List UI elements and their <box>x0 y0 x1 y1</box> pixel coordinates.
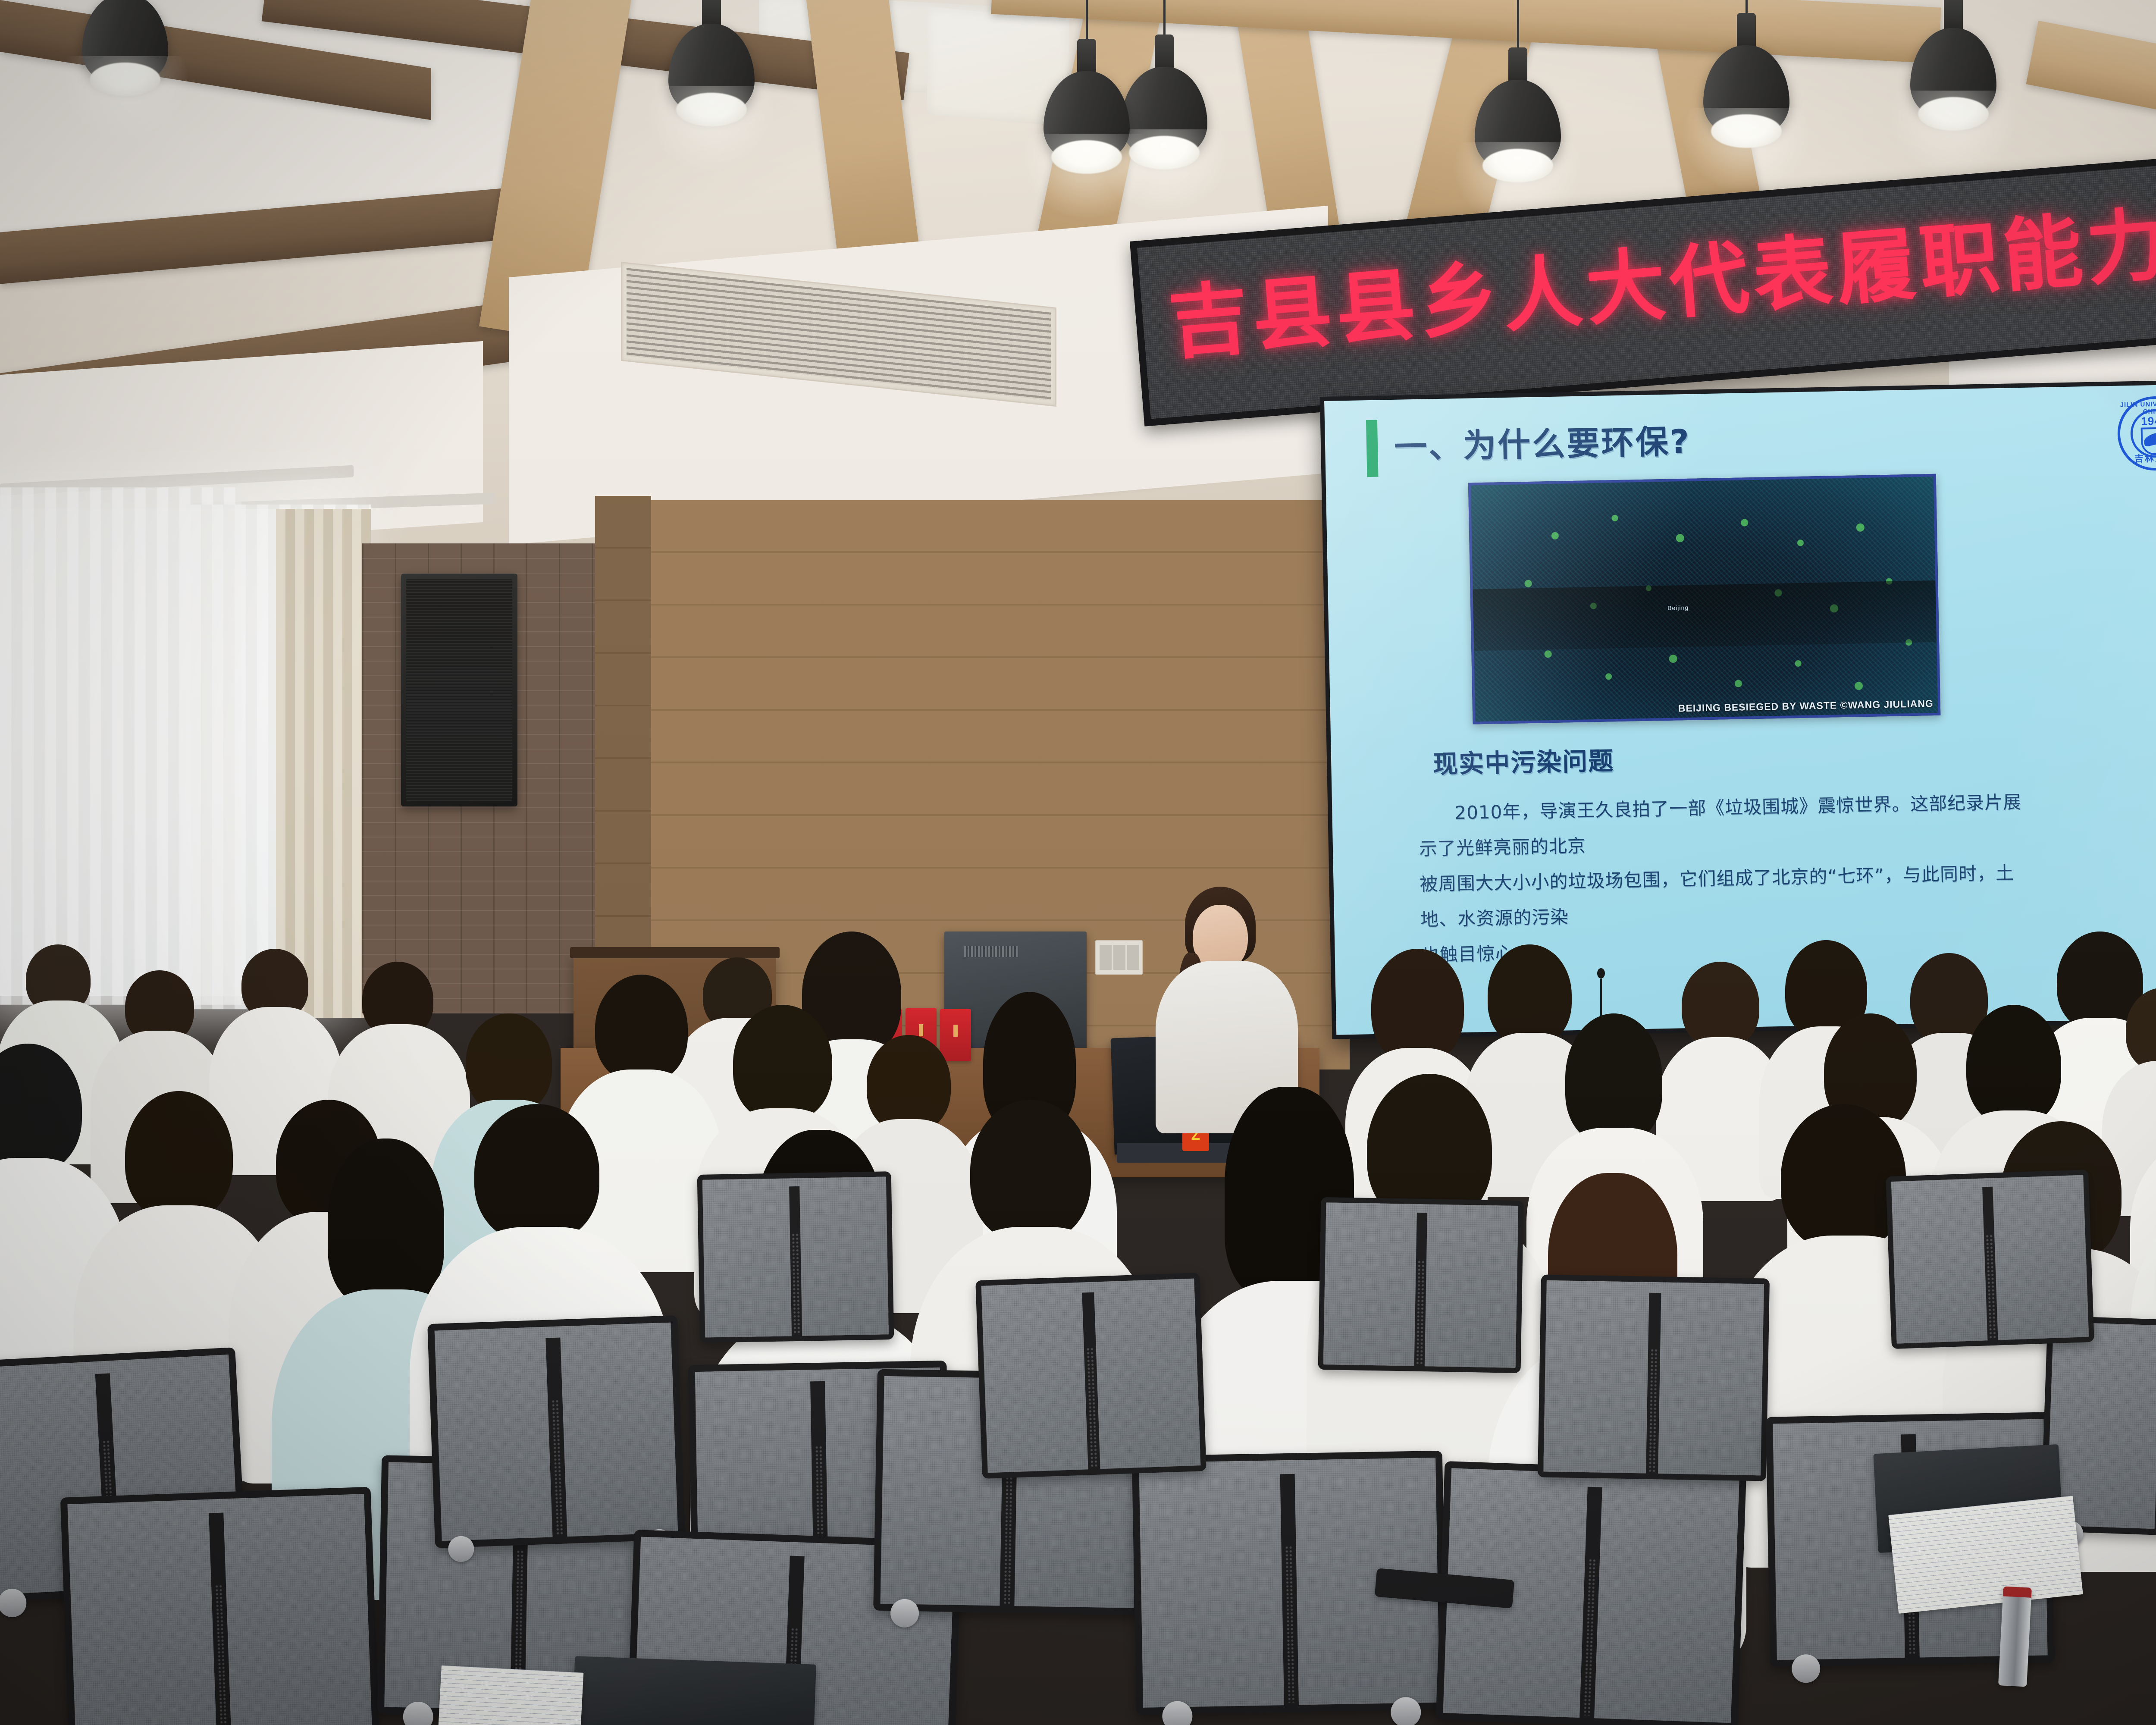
chair-tablet-arm-2[interactable] <box>572 1656 816 1725</box>
conference-room-photo: 吉县县乡人大代表履职能力提升培 一、为什么要环保? JILIN UNIVERSI… <box>0 0 2156 1725</box>
open-notebook <box>1888 1496 2083 1614</box>
slide-content: 一、为什么要环保? JILIN UNIVERSITY · CHINA 1946 … <box>1324 384 2156 1035</box>
logo-year: 1946 <box>2117 414 2156 428</box>
wall-speaker-left <box>401 574 517 806</box>
paper-sheet <box>439 1665 584 1725</box>
chair-m4[interactable] <box>1886 1170 2094 1349</box>
certificate-box-3 <box>940 1009 971 1061</box>
slide-satellite-photo: Beijing BEIJING BESIEGED BY WASTE ©WANG … <box>1468 474 1941 724</box>
chair-m1[interactable] <box>975 1273 1206 1479</box>
chair-f4[interactable] <box>427 1315 685 1548</box>
slide-body-line-2: 被周围大大小小的垃圾场包围，它们组成了北京的“七环”，与此同时，土地、水资源的污… <box>1420 855 2037 937</box>
chair-m6[interactable] <box>697 1171 894 1343</box>
slide-accent-bar <box>1366 420 1379 477</box>
chair-f2[interactable] <box>60 1487 380 1725</box>
slide-body-line-1: 2010年，导演王久良拍了一部《垃圾围城》震惊世界。这部纪录片展示了光鲜亮丽的北… <box>1418 784 2036 867</box>
jilin-university-logo: JILIN UNIVERSITY · CHINA 1946 吉林大学 <box>2117 395 2156 471</box>
chair-m5[interactable] <box>1318 1197 1524 1373</box>
logo-arc-text: JILIN UNIVERSITY · CHINA <box>2117 400 2156 416</box>
chair-m2[interactable] <box>1538 1274 1770 1481</box>
projection-screen: 一、为什么要环保? JILIN UNIVERSITY · CHINA 1946 … <box>1320 379 2156 1039</box>
photo-city-label: Beijing <box>1667 604 1689 612</box>
drape-curtain <box>276 509 371 1018</box>
slide-subtitle: 现实中污染问题 <box>1432 740 1614 780</box>
light-switch-panel[interactable] <box>1095 940 1143 975</box>
thermos-bottle <box>1998 1586 2032 1687</box>
logo-chinese-name: 吉林大学 <box>2118 451 2156 465</box>
slide-body-text: 2010年，导演王久良拍了一部《垃圾围城》震惊世界。这部纪录片展示了光鲜亮丽的北… <box>1418 784 2038 973</box>
slide-title: 一、为什么要环保? <box>1394 415 1691 468</box>
